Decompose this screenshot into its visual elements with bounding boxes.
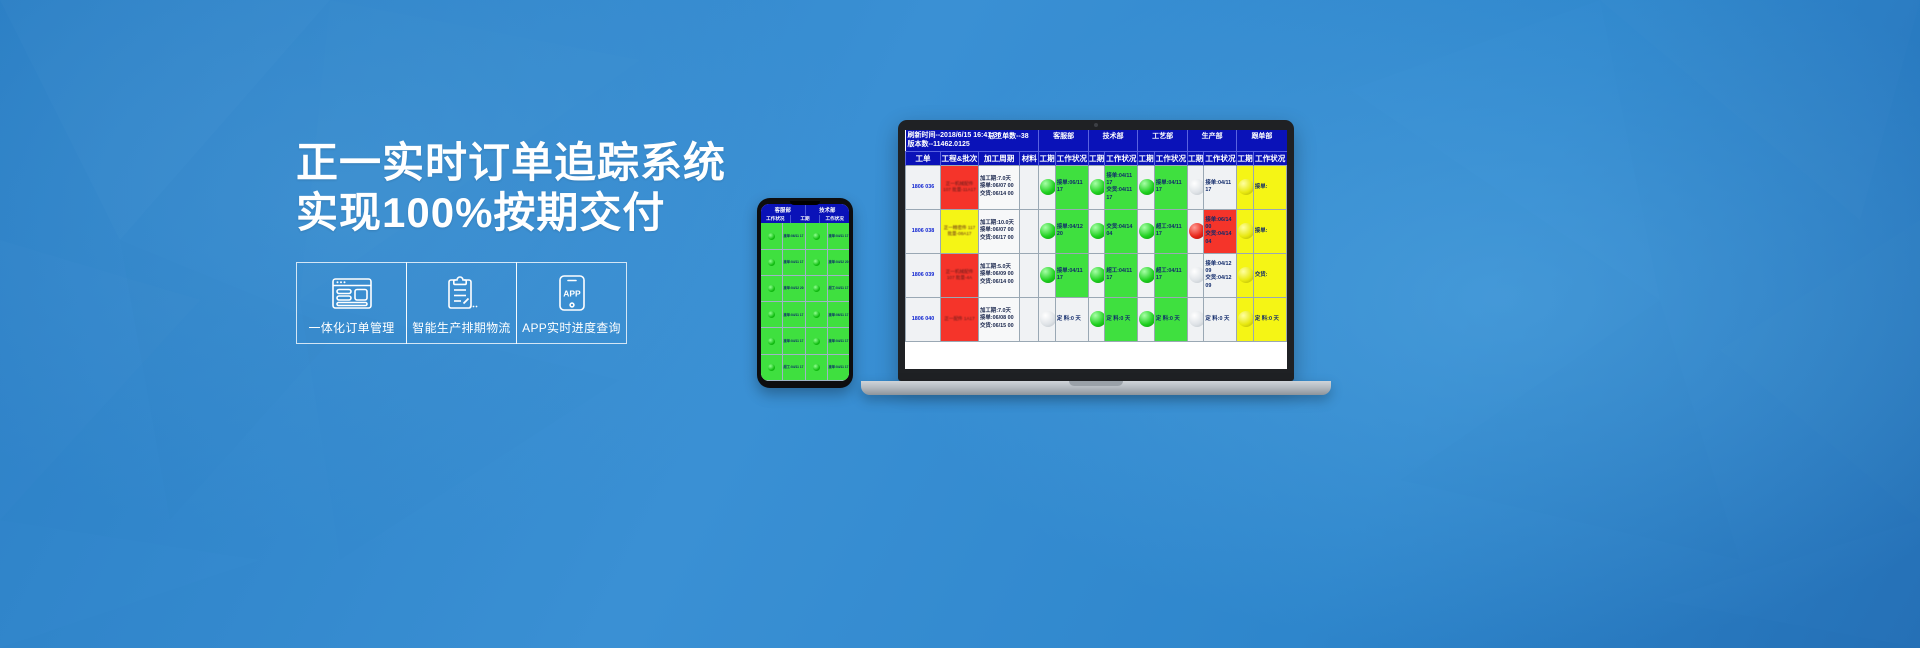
phone-status-cell[interactable]: 超工:04/11 17: [828, 276, 849, 302]
status-cell: 接单:06/11 17: [1055, 165, 1088, 209]
cycle-cell: 加工期:7.0天 接单:06/07 00 交货:06/14 00: [979, 165, 1020, 209]
duration-lamp-cell[interactable]: [1138, 165, 1155, 209]
laptop-base: [861, 381, 1331, 395]
status-cell: 超工:04/11 17: [1154, 253, 1187, 297]
feature-label: APP实时进度查询: [522, 319, 621, 336]
phone-status-cell[interactable]: 接单:04/11 17: [828, 355, 849, 381]
duration-lamp-cell[interactable]: [1237, 165, 1254, 209]
status-lamp-green-icon: [768, 338, 775, 345]
phone-mockup: 客服部 技术部 工作状况 工期 工作状况 接单:06/11 17: [757, 198, 853, 388]
phone-status-cell[interactable]: 接单:04/12 20: [828, 250, 849, 276]
phone-subheader: 工作状况: [820, 215, 849, 223]
status-cell: 接单:04/11 17: [1055, 253, 1088, 297]
duration-lamp-cell[interactable]: [1237, 297, 1254, 341]
phone-status-text: 接单:04/12 20: [828, 260, 848, 264]
table-row[interactable]: 1806 039 正一机械配件 107 批量-4A 加工期:5.0天 接单:06…: [906, 253, 1287, 297]
phone-status-cell[interactable]: 接单:04/11 17: [783, 250, 804, 276]
status-lamp-green-icon: [1139, 179, 1155, 195]
department-header-gendan: 跟单部: [1237, 130, 1287, 151]
status-lamp-green-icon: [1139, 267, 1155, 283]
department-header-jishu: 技术部: [1088, 130, 1138, 151]
phone-status-text: 接单:06/11 17: [828, 313, 848, 317]
table-row[interactable]: 1806 038 正一精密件 117 批量-08A17 加工期:10.0天 接单…: [906, 209, 1287, 253]
status-lamp-white-icon: [1189, 179, 1205, 195]
status-cell: 接单:: [1253, 209, 1286, 253]
phone-column-lamp: [761, 223, 783, 381]
phone-status-text: 接单:04/12 20: [784, 287, 804, 291]
meta-left-block: 刷新时间--2018/6/15 16:41:36 版本数--11462.0125: [906, 130, 979, 151]
phone-subheader: 工期: [791, 215, 821, 223]
phone-status-cell[interactable]: [806, 250, 827, 276]
status-cell: 接单:04/12 20: [1055, 209, 1088, 253]
status-lamp-yellow-icon: [1238, 267, 1254, 283]
phone-status-cell[interactable]: [761, 302, 782, 328]
page-title-line1: 正一实时订单追踪系统: [296, 138, 726, 188]
phone-status-cell[interactable]: [761, 355, 782, 381]
duration-lamp-cell[interactable]: [1187, 165, 1204, 209]
phone-status-text: 接单:04/11 17: [828, 339, 848, 343]
project-cell: 正一精密件 117 批量-08A17: [940, 209, 978, 253]
col-header-status: 工作状况: [1204, 151, 1237, 165]
status-cell: 定 料:0 天: [1154, 297, 1187, 341]
col-header-status: 工作状况: [1055, 151, 1088, 165]
phone-status-text: 接单:04/11 17: [828, 234, 848, 238]
phone-status-cell[interactable]: [761, 328, 782, 354]
status-lamp-green-icon: [813, 338, 820, 345]
phone-status-cell[interactable]: 接单:04/11 17: [783, 328, 804, 354]
phone-status-text: 接单:06/11 17: [784, 234, 804, 238]
status-cell: 定 料:0 天: [1204, 297, 1237, 341]
status-lamp-white-icon: [1189, 267, 1205, 283]
project-text: 正一机械配件 107 批量-4A: [942, 269, 977, 281]
project-cell: 正一机械配件 107 批量-4A: [940, 253, 978, 297]
status-cell: 接单:04/12 09 交货:04/12 09: [1204, 253, 1237, 297]
webcam-icon: [1094, 123, 1098, 127]
clipboard-edit-icon: [446, 276, 478, 310]
order-number-cell: 1806 039: [906, 253, 941, 297]
duration-lamp-cell[interactable]: [1088, 165, 1105, 209]
status-lamp-red-icon: [1189, 223, 1205, 239]
col-header-duration: 工期: [1138, 151, 1155, 165]
status-lamp-green-icon: [813, 233, 820, 240]
project-text: 正一机械配件 107 批量-11A17: [942, 181, 977, 193]
status-lamp-green-icon: [813, 364, 820, 371]
project-text: 正一精密件 117 批量-08A17: [942, 225, 977, 237]
status-lamp-green-icon: [1139, 311, 1155, 327]
phone-subheader: 工作状况: [761, 215, 791, 223]
phone-status-cell[interactable]: 超工:04/11 17: [783, 355, 804, 381]
status-lamp-green-icon: [768, 233, 775, 240]
phone-department: 客服部: [761, 204, 806, 215]
phone-column-status-a: 接单:06/11 17 接单:04/11 17 接单:04/12 20 接单:0…: [783, 223, 805, 381]
status-lamp-yellow-icon: [1238, 179, 1254, 195]
phone-status-cell[interactable]: 接单:06/11 17: [783, 223, 804, 249]
total-orders-label: 总工单数--38: [979, 130, 1039, 151]
status-cell: 超工:04/11 17: [1105, 253, 1138, 297]
phone-status-text: 接单:04/11 17: [828, 365, 848, 369]
department-header-gongyi: 工艺部: [1138, 130, 1188, 151]
project-text: 正一配件 1A17: [942, 316, 977, 322]
cycle-cell: 加工期:7.0天 接单:06/08 00 交货:06/15 00: [979, 297, 1020, 341]
phone-status-cell[interactable]: [761, 276, 782, 302]
status-lamp-green-icon: [1040, 179, 1056, 195]
status-lamp-green-icon: [813, 311, 820, 318]
phone-status-cell[interactable]: 接单:04/11 17: [828, 328, 849, 354]
phone-department-header: 客服部 技术部: [761, 204, 849, 215]
laptop-base-notch: [1069, 381, 1123, 386]
status-lamp-green-icon: [1090, 267, 1106, 283]
duration-lamp-cell[interactable]: [1138, 209, 1155, 253]
status-lamp-green-icon: [768, 364, 775, 371]
status-cell: 定 料:0 天: [1105, 297, 1138, 341]
table-row[interactable]: 1806 036 正一机械配件 107 批量-11A17 加工期:7.0天 接单…: [906, 165, 1287, 209]
col-header-status: 工作状况: [1154, 151, 1187, 165]
phone-status-cell[interactable]: 接单:04/11 17: [783, 302, 804, 328]
status-cell: 交货:04/14 04: [1105, 209, 1138, 253]
department-header-kefu: 客服部: [1039, 130, 1089, 151]
status-cell: 超工:04/11 17: [1154, 209, 1187, 253]
status-cell: 接单:04/11 17: [1204, 165, 1237, 209]
status-cell: 定 料:0 天: [1055, 297, 1088, 341]
phone-status-cell[interactable]: [806, 328, 827, 354]
refresh-time-label: 刷新时间--2018/6/15 16:41:36: [908, 131, 977, 140]
material-cell: [1020, 209, 1039, 253]
status-lamp-green-icon: [1139, 223, 1155, 239]
material-cell: [1020, 253, 1039, 297]
feature-label: 智能生产排期物流: [412, 319, 510, 336]
phone-status-cell[interactable]: 接单:06/11 17: [828, 302, 849, 328]
duration-lamp-cell[interactable]: [1039, 165, 1056, 209]
status-cell: 接单:: [1253, 165, 1286, 209]
phone-status-text: 超工:04/11 17: [784, 365, 804, 369]
phone-status-cell[interactable]: 接单:04/11 17: [828, 223, 849, 249]
material-cell: [1020, 297, 1039, 341]
status-lamp-green-icon: [1090, 311, 1106, 327]
status-cell: 定 料:0 天: [1253, 297, 1286, 341]
phone-status-cell[interactable]: [806, 355, 827, 381]
phone-notch: [790, 201, 820, 205]
mobile-app-icon: APP: [559, 276, 585, 310]
laptop-lid: 刷新时间--2018/6/15 16:41:36 版本数--11462.0125…: [898, 120, 1294, 381]
phone-status-cell[interactable]: [761, 250, 782, 276]
order-number-cell: 1806 036: [906, 165, 941, 209]
status-cell: 接单:06/14 00 交货:04/14 04: [1204, 209, 1237, 253]
version-label: 版本数--11462.0125: [908, 140, 977, 149]
phone-status-cell[interactable]: [806, 276, 827, 302]
status-lamp-green-icon: [768, 259, 775, 266]
department-header-shengchan: 生产部: [1187, 130, 1237, 151]
page-title-line2: 实现100%按期交付: [296, 188, 726, 238]
promo-banner: 正一实时订单追踪系统 实现100%按期交付 一体化订单管理: [0, 0, 1920, 648]
phone-screen: 客服部 技术部 工作状况 工期 工作状况 接单:06/11 17: [761, 204, 849, 381]
dashboard-meta-row: 刷新时间--2018/6/15 16:41:36 版本数--11462.0125…: [906, 130, 1287, 151]
feature-item-production-scheduling[interactable]: 智能生产排期物流: [406, 262, 517, 344]
duration-lamp-cell[interactable]: [1138, 253, 1155, 297]
duration-lamp-cell[interactable]: [1088, 297, 1105, 341]
phone-column-lamp-b: [806, 223, 828, 381]
laptop-mockup: 刷新时间--2018/6/15 16:41:36 版本数--11462.0125…: [861, 120, 1331, 395]
order-number-cell: 1806 040: [906, 297, 941, 341]
status-lamp-green-icon: [813, 285, 820, 292]
phone-column-status-b: 接单:04/11 17 接单:04/12 20 超工:04/11 17 接单:0…: [828, 223, 849, 381]
status-lamp-yellow-icon: [1238, 223, 1254, 239]
col-header-duration: 工期: [1039, 151, 1056, 165]
status-lamp-white-icon: [1040, 311, 1056, 327]
dashboard-layout-icon: [332, 276, 372, 310]
phone-status-text: 超工:04/11 17: [828, 287, 848, 291]
duration-lamp-cell[interactable]: [1187, 209, 1204, 253]
feature-item-order-management[interactable]: 一体化订单管理: [296, 262, 407, 344]
status-cell: 接单:04/11 17: [1154, 165, 1187, 209]
project-cell: 正一配件 1A17: [940, 297, 978, 341]
phone-status-text: 接单:04/11 17: [784, 313, 804, 317]
col-header-project: 工程&批次: [940, 151, 978, 165]
phone-status-cell[interactable]: [761, 223, 782, 249]
duration-lamp-cell[interactable]: [1138, 297, 1155, 341]
status-lamp-green-icon: [768, 311, 775, 318]
phone-subheader-row: 工作状况 工期 工作状况: [761, 215, 849, 223]
duration-lamp-cell[interactable]: [1088, 253, 1105, 297]
order-number-cell: 1806 038: [906, 209, 941, 253]
column-header-row: 工单 工程&批次 加工周期 材料 工期 工作状况 工期 工作状况 工期 工作状况…: [906, 151, 1287, 165]
phone-status-cell[interactable]: 接单:04/12 20: [783, 276, 804, 302]
feature-label: 一体化订单管理: [308, 319, 394, 336]
cycle-cell: 加工期:10.0天 接单:06/07 00 交货:06/17 00: [979, 209, 1020, 253]
duration-lamp-cell[interactable]: [1187, 253, 1204, 297]
duration-lamp-cell[interactable]: [1237, 253, 1254, 297]
status-lamp-green-icon: [813, 259, 820, 266]
col-header-order: 工单: [906, 151, 941, 165]
status-lamp-green-icon: [1090, 179, 1106, 195]
status-lamp-white-icon: [1189, 311, 1205, 327]
duration-lamp-cell[interactable]: [1088, 209, 1105, 253]
status-lamp-green-icon: [1040, 267, 1056, 283]
col-header-duration: 工期: [1088, 151, 1105, 165]
phone-status-cell[interactable]: [806, 302, 827, 328]
phone-table-body[interactable]: 接单:06/11 17 接单:04/11 17 接单:04/12 20 接单:0…: [761, 223, 849, 381]
phone-status-text: 接单:04/11 17: [784, 260, 804, 264]
duration-lamp-cell[interactable]: [1187, 297, 1204, 341]
status-lamp-yellow-icon: [1238, 311, 1254, 327]
col-header-cycle: 加工周期: [979, 151, 1020, 165]
duration-lamp-cell[interactable]: [1039, 297, 1056, 341]
phone-status-cell[interactable]: [806, 223, 827, 249]
svg-text:APP: APP: [563, 289, 581, 299]
col-header-status: 工作状况: [1105, 151, 1138, 165]
col-header-duration: 工期: [1187, 151, 1204, 165]
duration-lamp-cell[interactable]: [1039, 209, 1056, 253]
table-row[interactable]: 1806 040 正一配件 1A17 加工期:7.0天 接单:06/08 00 …: [906, 297, 1287, 341]
project-cell: 正一机械配件 107 批量-11A17: [940, 165, 978, 209]
status-cell: 交货:: [1253, 253, 1286, 297]
duration-lamp-cell[interactable]: [1039, 253, 1056, 297]
duration-lamp-cell[interactable]: [1237, 209, 1254, 253]
status-lamp-green-icon: [1040, 223, 1056, 239]
col-header-status: 工作状况: [1253, 151, 1286, 165]
order-tracking-table[interactable]: 刷新时间--2018/6/15 16:41:36 版本数--11462.0125…: [905, 130, 1287, 342]
cycle-cell: 加工期:5.0天 接单:06/09 00 交货:06/14 00: [979, 253, 1020, 297]
feature-item-app-progress[interactable]: APP APP实时进度查询: [516, 262, 627, 344]
material-cell: [1020, 165, 1039, 209]
hero-copy: 正一实时订单追踪系统 实现100%按期交付: [296, 138, 726, 237]
laptop-screen: 刷新时间--2018/6/15 16:41:36 版本数--11462.0125…: [905, 130, 1287, 369]
phone-status-text: 接单:04/11 17: [784, 339, 804, 343]
col-header-material: 材料: [1020, 151, 1039, 165]
col-header-duration: 工期: [1237, 151, 1254, 165]
status-lamp-green-icon: [768, 285, 775, 292]
status-lamp-green-icon: [1090, 223, 1106, 239]
phone-department: 技术部: [806, 204, 850, 215]
status-cell: 接单:04/11 17 交货:04/11 17: [1105, 165, 1138, 209]
feature-list: 一体化订单管理 智能生产排期物流: [296, 262, 627, 344]
